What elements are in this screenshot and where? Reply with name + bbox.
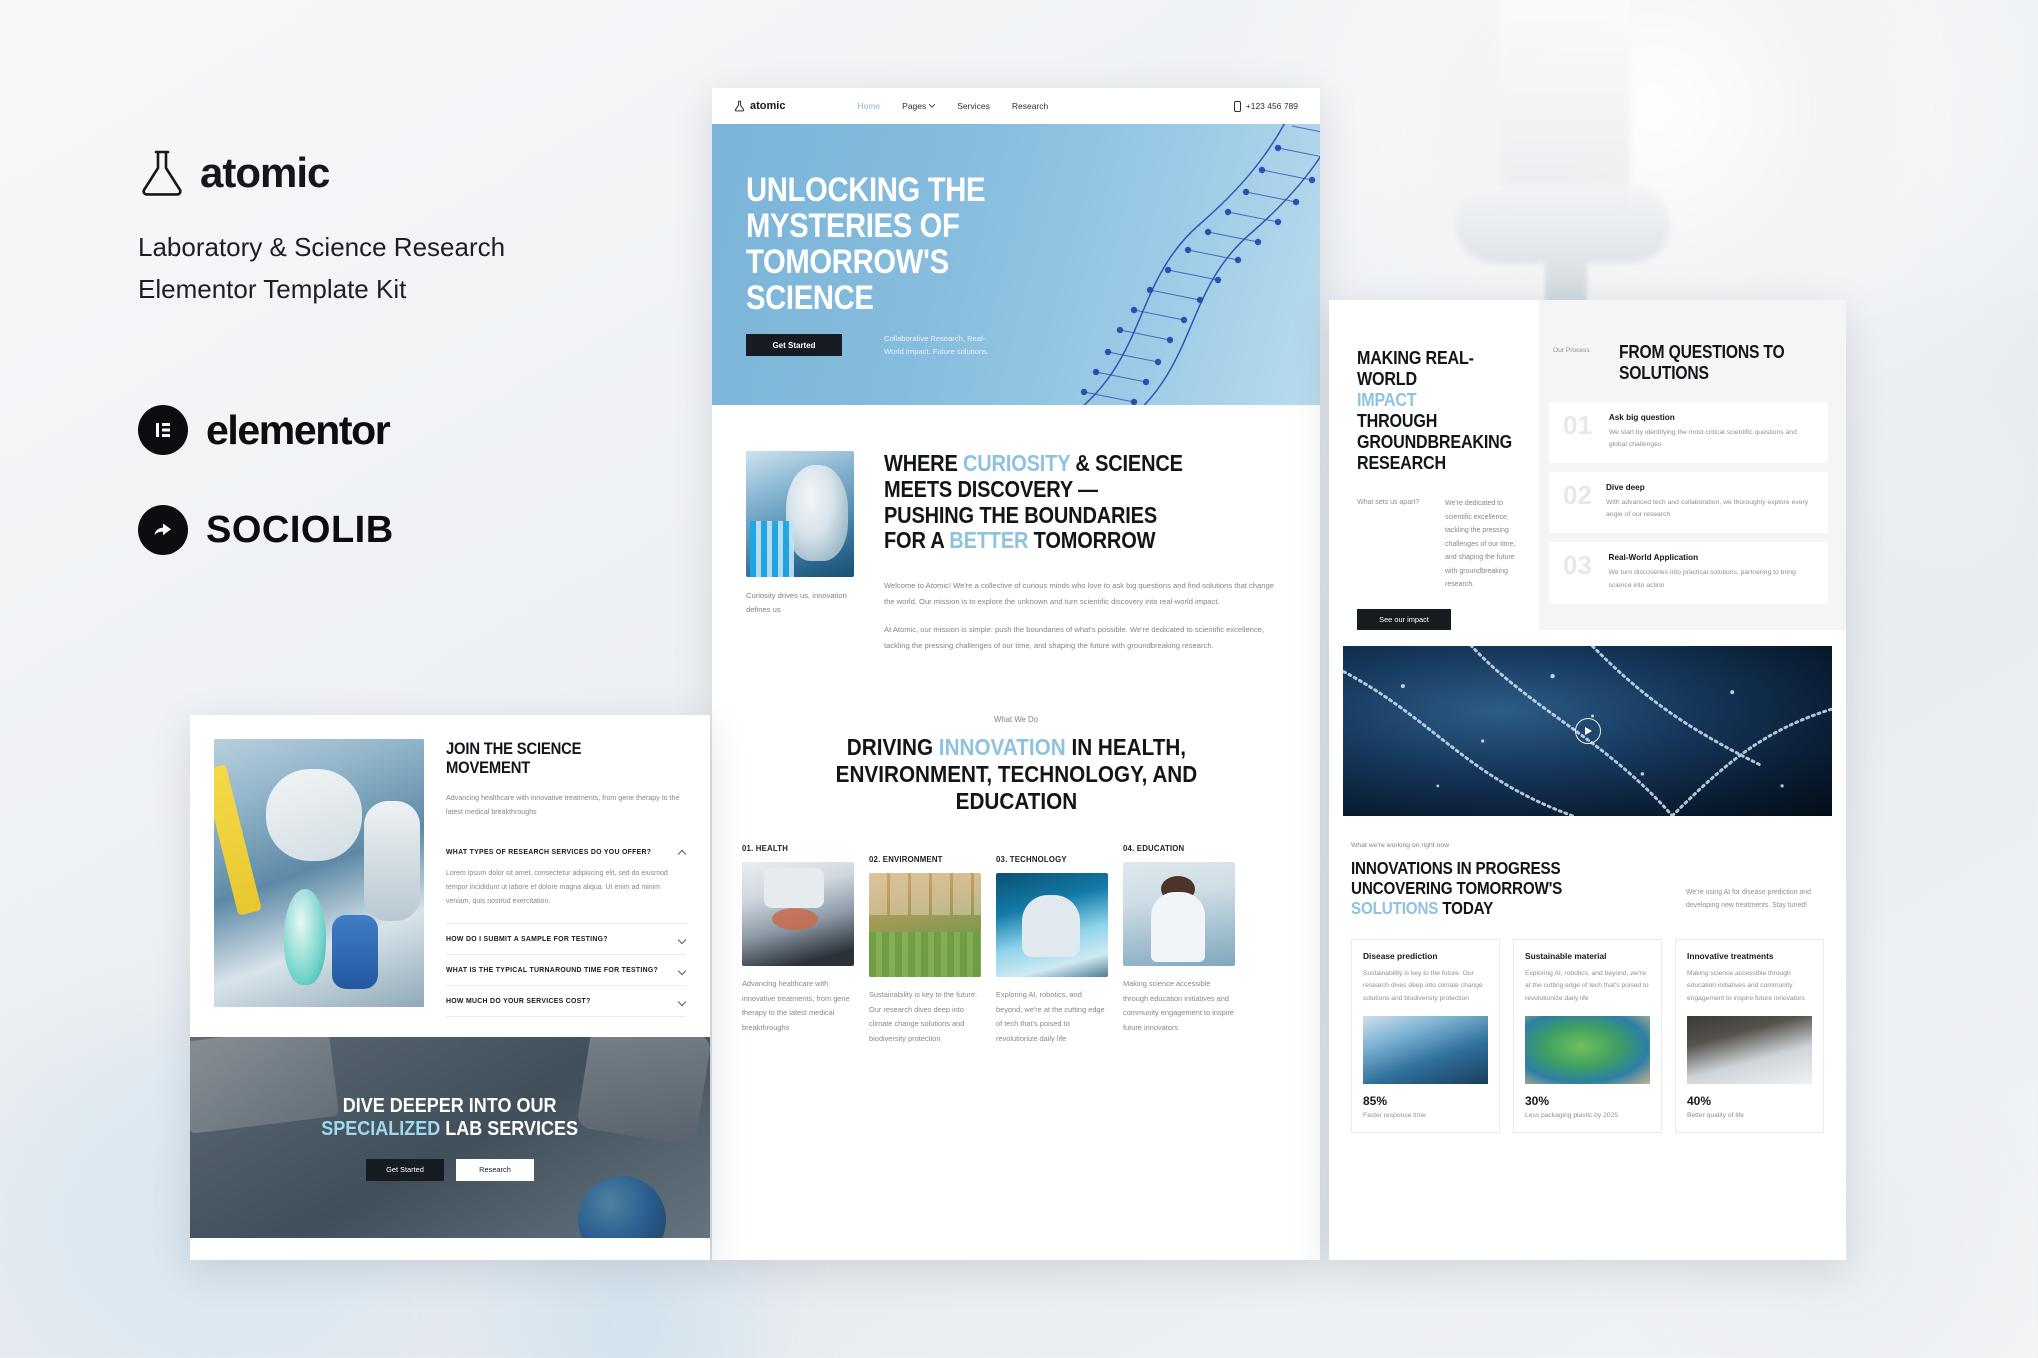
faq-accordion-header[interactable]: WHAT TYPES OF RESEARCH SERVICES DO YOU O…: [446, 848, 686, 856]
impact-heading-l2-rest: THROUGH: [1357, 410, 1437, 431]
innovations-heading: INNOVATIONS IN PROGRESS UNCOVERING TOMOR…: [1351, 858, 1642, 919]
chevron-down-icon[interactable]: [678, 997, 686, 1005]
process-step-title: Dive deep: [1606, 483, 1814, 492]
nav-item-research[interactable]: Research: [1012, 101, 1048, 111]
process-step[interactable]: 01 Ask big question We start by identify…: [1549, 402, 1828, 463]
faq-body: JOIN THE SCIENCE MOVEMENT Advancing heal…: [446, 739, 686, 1017]
process-step-number: 03: [1563, 553, 1597, 591]
impact-heading-accent: IMPACT: [1357, 389, 1416, 410]
photo-shape-flask: [284, 889, 326, 985]
service-card-label: 02. ENVIRONMENT: [869, 855, 981, 864]
stat-card-desc: Exploring AI, robotics, and beyond, we'r…: [1525, 968, 1650, 1004]
process-step-number: 02: [1563, 483, 1594, 521]
innovations-heading-line-1: INNOVATIONS IN PROGRESS: [1351, 858, 1642, 878]
faq-question: HOW DO I SUBMIT A SAMPLE FOR TESTING?: [446, 936, 670, 943]
what-we-do-heading-accent: INNOVATION: [938, 734, 1065, 760]
process-step-title: Ask big question: [1609, 413, 1814, 422]
nav-item-pages-label: Pages: [902, 101, 926, 111]
cta-heading-accent: SPECIALIZED: [322, 1118, 441, 1140]
phone-icon: [1234, 101, 1241, 112]
about-paragraph-1: Welcome to Atomic! We're a collective of…: [884, 578, 1286, 609]
innovation-stat-cards: Disease prediction Sustainability is key…: [1351, 939, 1824, 1132]
process-header: Our Process FROM QUESTIONS TO SOLUTIONS: [1539, 342, 1828, 383]
about-heading-l4b: TOMORROW: [1028, 527, 1155, 553]
service-card-text: Sustainability is key to the future. Our…: [869, 988, 981, 1046]
service-card-education[interactable]: 04. EDUCATION Making science accessible …: [1123, 844, 1235, 1035]
faq-accordion-item-4[interactable]: HOW MUCH DO YOUR SERVICES COST?: [446, 986, 686, 1017]
site-navbar: atomic Home Pages Services Research +123…: [712, 88, 1320, 124]
what-we-do-heading: DRIVING INNOVATION IN HEALTH, ENVIRONMEN…: [781, 734, 1252, 814]
impact-heading-line-3: GROUNDBREAKING: [1357, 431, 1496, 452]
process-heading-line-2: SOLUTIONS: [1619, 363, 1801, 384]
impact-heading-line-4: RESEARCH: [1357, 452, 1496, 473]
impact-heading-line-2: IMPACT THROUGH: [1357, 389, 1496, 431]
brand-subtitle-line-2: Elementor Template Kit: [138, 268, 618, 310]
about-body: WHERE CURIOSITY & SCIENCE MEETS DISCOVER…: [884, 451, 1286, 653]
cta-content: DIVE DEEPER INTO OUR SPECIALIZED LAB SER…: [190, 1037, 710, 1238]
faq-accordion-item-2[interactable]: HOW DO I SUBMIT A SAMPLE FOR TESTING?: [446, 924, 686, 955]
photo-shape-coat: [364, 801, 420, 921]
service-card-technology[interactable]: 03. TECHNOLOGY Exploring AI, robotics, a…: [996, 855, 1108, 1046]
stat-card-caption: Better quality of life: [1687, 1112, 1812, 1119]
video-section[interactable]: [1343, 646, 1832, 816]
navbar-links: Home Pages Services Research: [857, 101, 1048, 111]
nav-item-pages[interactable]: Pages: [902, 101, 935, 111]
about-section: Curiosity drives us, innovation defines …: [712, 405, 1320, 653]
what-we-do-eyebrow: What We Do: [712, 715, 1320, 724]
innovations-header: What we're working on right now INNOVATI…: [1351, 842, 1824, 919]
process-heading-line-1: FROM QUESTIONS TO: [1619, 342, 1801, 363]
stat-card-title: Innovative treatments: [1687, 951, 1812, 961]
elementor-badge-icon: [138, 405, 188, 455]
faq-accordion-header[interactable]: HOW DO I SUBMIT A SAMPLE FOR TESTING?: [446, 935, 686, 943]
photo-shape-head: [266, 769, 362, 861]
faq-section: JOIN THE SCIENCE MOVEMENT Advancing heal…: [190, 715, 710, 1017]
brand-subtitle: Laboratory & Science Research Elementor …: [138, 226, 618, 310]
main-page-mockup: atomic Home Pages Services Research +123…: [712, 88, 1320, 1260]
faq-accordion-item-3[interactable]: WHAT IS THE TYPICAL TURNAROUND TIME FOR …: [446, 955, 686, 986]
stat-card-percent: 40%: [1687, 1094, 1812, 1108]
impact-heading-line-1: MAKING REAL-WORLD: [1357, 347, 1496, 389]
service-card-image-environment: [869, 873, 981, 977]
faq-question: WHAT IS THE TYPICAL TURNAROUND TIME FOR …: [446, 967, 670, 974]
stat-card-innovative-treatments[interactable]: Innovative treatments Making science acc…: [1675, 939, 1824, 1132]
service-card-environment[interactable]: 02. ENVIRONMENT Sustainability is key to…: [869, 855, 981, 1046]
about-heading-line-2: MEETS DISCOVERY —: [884, 477, 1286, 503]
process-step-desc: We turn discoveries into practical solut…: [1609, 567, 1814, 591]
stat-card-title: Disease prediction: [1363, 951, 1488, 961]
faq-heading-line-1: JOIN THE SCIENCE: [446, 739, 655, 758]
cta-buttons: Get Started Research: [366, 1159, 534, 1181]
elementor-wordmark: elementor: [206, 407, 389, 454]
innovations-left: What we're working on right now INNOVATI…: [1351, 842, 1686, 919]
faq-accordion: WHAT TYPES OF RESEARCH SERVICES DO YOU O…: [446, 837, 686, 1017]
innovations-section: What we're working on right now INNOVATI…: [1329, 816, 1846, 1133]
brand-subtitle-line-1: Laboratory & Science Research: [138, 226, 618, 268]
service-card-text: Exploring AI, robotics, and beyond, we'r…: [996, 988, 1108, 1046]
hero-section: UNLOCKING THE MYSTERIES OF TOMORROW'S SC…: [712, 124, 1320, 405]
process-tag: Our Process: [1553, 342, 1605, 383]
service-card-image-health: [742, 862, 854, 966]
about-heading-line-1: WHERE CURIOSITY & SCIENCE: [884, 451, 1286, 477]
cta-heading-line-1: DIVE DEEPER INTO OUR: [322, 1095, 579, 1119]
stat-card-title: Sustainable material: [1525, 951, 1650, 961]
cta-research-button[interactable]: Research: [456, 1159, 534, 1181]
innovations-heading-line-2: UNCOVERING TOMORROW'S: [1351, 878, 1642, 898]
hero-title-line-2: MYSTERIES OF: [746, 208, 985, 244]
brand-name: atomic: [200, 149, 329, 197]
about-heading-accent-curiosity: CURIOSITY: [963, 450, 1070, 476]
see-our-impact-button[interactable]: See our impact: [1357, 609, 1451, 630]
impact-answer: We're dedicated to scientific excellence…: [1445, 497, 1517, 591]
brand-block: atomic Laboratory & Science Research Ele…: [138, 148, 618, 310]
photo-shape-glove: [332, 915, 378, 989]
faq-lead-text: Advancing healthcare with innovative tre…: [446, 792, 686, 820]
innovations-side-note: We're using AI for disease prediction an…: [1686, 842, 1824, 919]
stat-card-disease-prediction[interactable]: Disease prediction Sustainability is key…: [1351, 939, 1500, 1132]
faq-answer: Lorem ipsum dolor sit amet, consectetur …: [446, 867, 686, 912]
faq-accordion-header[interactable]: HOW MUCH DO YOUR SERVICES COST?: [446, 997, 686, 1005]
about-heading-line-3: PUSHING THE BOUNDARIES: [884, 503, 1286, 529]
share-arrow-icon: [138, 505, 188, 555]
service-card-label: 01. HEALTH: [742, 844, 854, 853]
navbar-logo-text: atomic: [750, 100, 785, 112]
service-card-text: Making science accessible through educat…: [1123, 977, 1235, 1035]
about-figure-caption: Curiosity drives us, innovation defines …: [746, 589, 854, 617]
about-paragraph-2: At Atomic, our mission is simple: push t…: [884, 622, 1286, 653]
stat-card-image-classroom: [1687, 1016, 1812, 1084]
photo-shape-pipette: [214, 764, 262, 915]
faq-question: HOW MUCH DO YOUR SERVICES COST?: [446, 998, 670, 1005]
about-figure: Curiosity drives us, innovation defines …: [746, 451, 854, 653]
process-steps: 01 Ask big question We start by identify…: [1539, 402, 1828, 604]
process-step-body: Real-World Application We turn discoveri…: [1609, 553, 1814, 591]
impact-heading: MAKING REAL-WORLD IMPACT THROUGH GROUNDB…: [1357, 347, 1496, 473]
cta-section: DIVE DEEPER INTO OUR SPECIALIZED LAB SER…: [190, 1037, 710, 1238]
process-step-title: Real-World Application: [1609, 553, 1814, 562]
faq-page-mockup: JOIN THE SCIENCE MOVEMENT Advancing heal…: [190, 715, 710, 1260]
about-heading-l1b: & SCIENCE: [1070, 450, 1183, 476]
stat-card-image-earth: [1525, 1016, 1650, 1084]
service-card-label: 04. EDUCATION: [1123, 844, 1235, 853]
innovations-heading-accent: SOLUTIONS: [1351, 898, 1438, 918]
hero-title-line-4: SCIENCE: [746, 280, 985, 316]
hero-title-line-1: UNLOCKING THE: [746, 172, 985, 208]
hero-title: UNLOCKING THE MYSTERIES OF TOMORROW'S SC…: [746, 172, 985, 316]
innovations-eyebrow: What we're working on right now: [1351, 842, 1686, 849]
nav-item-services[interactable]: Services: [957, 101, 990, 111]
chevron-up-icon[interactable]: [678, 848, 686, 856]
play-icon[interactable]: [1575, 718, 1601, 744]
about-heading-line-4: FOR A BETTER TOMORROW: [884, 528, 1286, 554]
stat-card-caption: Faster response time: [1363, 1112, 1488, 1119]
service-card-image-technology: [996, 873, 1108, 977]
cta-heading-line-2: SPECIALIZED LAB SERVICES: [322, 1118, 579, 1142]
hero-tagline: Collaborative Research, Real-World Impac…: [884, 332, 1004, 359]
about-heading-accent-better: BETTER: [949, 527, 1028, 553]
service-card-text: Advancing healthcare with innovative tre…: [742, 977, 854, 1035]
faq-question: WHAT TYPES OF RESEARCH SERVICES DO YOU O…: [446, 849, 670, 856]
about-heading-l4a: FOR A: [884, 527, 949, 553]
process-step[interactable]: 02 Dive deep With advanced tech and coll…: [1549, 472, 1828, 533]
sociolib-wordmark: SOCIOLIB: [206, 509, 394, 552]
navbar-logo[interactable]: atomic: [734, 100, 785, 112]
stat-card-sustainable-material[interactable]: Sustainable material Exploring AI, robot…: [1513, 939, 1662, 1132]
service-card-label: 03. TECHNOLOGY: [996, 855, 1108, 864]
impact-page-mockup: MAKING REAL-WORLD IMPACT THROUGH GROUNDB…: [1329, 300, 1846, 1260]
hero-get-started-button[interactable]: Get Started: [746, 334, 842, 356]
service-card-image-education: [1123, 862, 1235, 966]
stat-card-desc: Sustainability is key to the future. Our…: [1363, 968, 1488, 1004]
service-card-health[interactable]: 01. HEALTH Advancing healthcare with inn…: [742, 844, 854, 1035]
lab-student-photo: [214, 739, 424, 1007]
cta-heading-l2-rest: LAB SERVICES: [441, 1118, 579, 1140]
impact-subsection: What sets us apart? We're dedicated to s…: [1357, 497, 1517, 591]
faq-heading-line-2: MOVEMENT: [446, 758, 655, 777]
process-step-body: Dive deep With advanced tech and collabo…: [1606, 483, 1814, 521]
what-we-do-heading-a: DRIVING: [846, 734, 938, 760]
process-heading: FROM QUESTIONS TO SOLUTIONS: [1619, 342, 1801, 383]
navbar-phone[interactable]: +123 456 789: [1234, 101, 1298, 112]
about-heading: WHERE CURIOSITY & SCIENCE MEETS DISCOVER…: [884, 451, 1286, 554]
process-step-body: Ask big question We start by identifying…: [1609, 413, 1814, 451]
process-step-desc: With advanced tech and collaboration, we…: [1606, 497, 1814, 521]
stat-card-percent: 30%: [1525, 1094, 1650, 1108]
cta-heading: DIVE DEEPER INTO OUR SPECIALIZED LAB SER…: [322, 1095, 579, 1142]
stat-card-desc: Making science accessible through educat…: [1687, 968, 1812, 1004]
process-section: Our Process FROM QUESTIONS TO SOLUTIONS …: [1539, 300, 1846, 630]
innovations-heading-l3-rest: TODAY: [1438, 898, 1493, 918]
stat-card-image-microscope: [1363, 1016, 1488, 1084]
impact-left: MAKING REAL-WORLD IMPACT THROUGH GROUNDB…: [1329, 347, 1539, 630]
flask-icon: [138, 148, 186, 198]
faq-accordion-item-1[interactable]: WHAT TYPES OF RESEARCH SERVICES DO YOU O…: [446, 837, 686, 924]
process-step-number: 01: [1563, 413, 1597, 451]
sociolib-logo: SOCIOLIB: [138, 505, 394, 555]
brand-title: atomic: [138, 148, 618, 198]
service-cards: 01. HEALTH Advancing healthcare with inn…: [712, 814, 1320, 1046]
navbar-phone-number: +123 456 789: [1246, 101, 1298, 111]
dna-helix-illustration: [1000, 124, 1320, 405]
process-step[interactable]: 03 Real-World Application We turn discov…: [1549, 542, 1828, 603]
innovations-heading-line-3: SOLUTIONS TODAY: [1351, 898, 1642, 918]
nav-item-home[interactable]: Home: [857, 101, 880, 111]
elementor-logo: elementor: [138, 405, 389, 455]
faq-accordion-header[interactable]: WHAT IS THE TYPICAL TURNAROUND TIME FOR …: [446, 966, 686, 974]
chevron-down-icon[interactable]: [678, 966, 686, 974]
cta-get-started-button[interactable]: Get Started: [366, 1159, 444, 1181]
impact-question: What sets us apart?: [1357, 497, 1429, 591]
stat-card-caption: Less packaging plastic by 2025: [1525, 1112, 1650, 1119]
about-heading-l1a: WHERE: [884, 450, 963, 476]
what-we-do-section: What We Do DRIVING INNOVATION IN HEALTH,…: [712, 715, 1320, 814]
hero-title-line-3: TOMORROW'S: [746, 244, 985, 280]
scientist-photo: [746, 451, 854, 577]
process-step-desc: We start by identifying the most critica…: [1609, 427, 1814, 451]
impact-section: MAKING REAL-WORLD IMPACT THROUGH GROUNDB…: [1329, 300, 1846, 630]
chevron-down-icon[interactable]: [678, 935, 686, 943]
chevron-down-icon: [929, 104, 935, 108]
faq-heading: JOIN THE SCIENCE MOVEMENT: [446, 739, 655, 778]
stat-card-percent: 85%: [1363, 1094, 1488, 1108]
